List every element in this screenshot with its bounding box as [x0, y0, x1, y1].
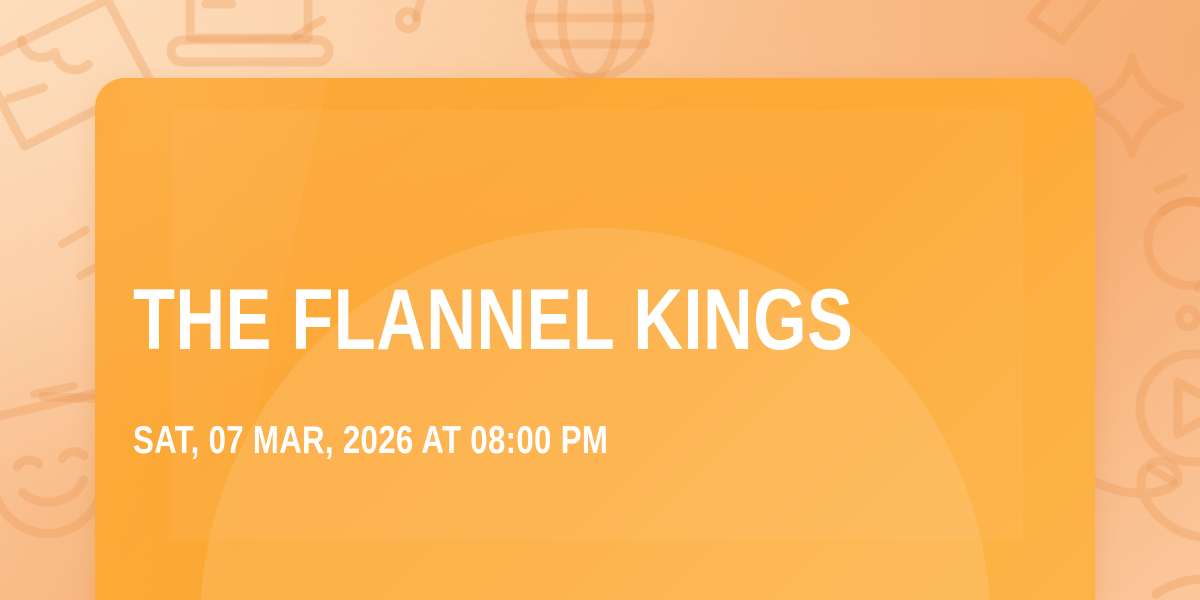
event-card[interactable]: THE FLANNEL KINGS SAT, 07 MAR, 2026 AT 0… [95, 78, 1095, 600]
event-banner: THE FLANNEL KINGS SAT, 07 MAR, 2026 AT 0… [0, 0, 1200, 600]
event-date-time: SAT, 07 MAR, 2026 AT 08:00 PM [133, 421, 608, 460]
event-title: THE FLANNEL KINGS [133, 277, 853, 363]
sparkle-icon [1084, 58, 1180, 154]
card-text-block: THE FLANNEL KINGS SAT, 07 MAR, 2026 AT 0… [133, 78, 1055, 600]
play-button-icon [1140, 354, 1200, 462]
globe-icon [530, 0, 650, 78]
confetti-popper-icon [1012, 0, 1174, 48]
